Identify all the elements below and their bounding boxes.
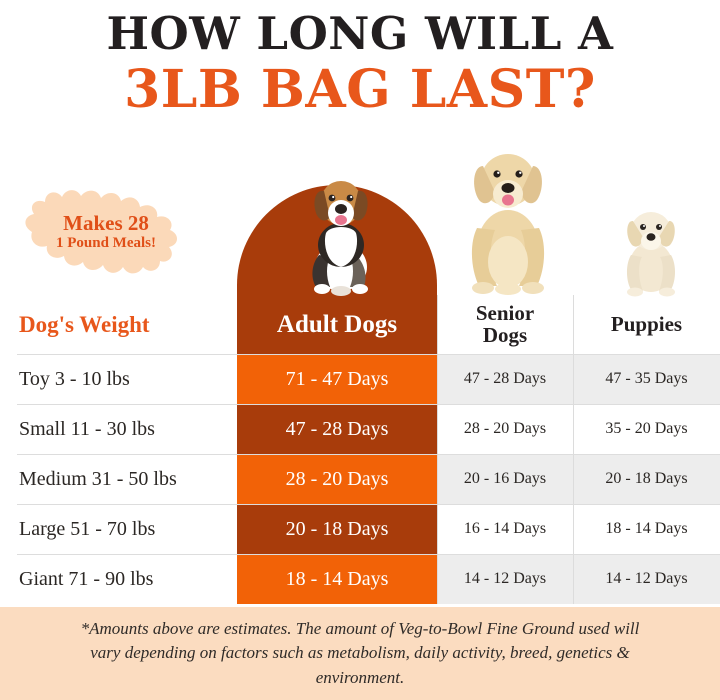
row-divider: [17, 454, 720, 455]
adult-dog-image: [286, 171, 396, 297]
cell-weight: Large 51 - 70 lbs: [0, 504, 237, 554]
cell-weight: Medium 31 - 50 lbs: [0, 454, 237, 504]
cell-senior: 14 - 12 Days: [437, 554, 573, 604]
header-label-adult: Adult Dogs: [237, 295, 437, 354]
row-divider: [17, 504, 720, 505]
table-row: Large 51 - 70 lbs20 - 18 Days16 - 14 Day…: [0, 504, 720, 554]
badge-text-group: Makes 28 1 Pound Meals!: [20, 186, 192, 278]
cell-senior: 28 - 20 Days: [437, 404, 573, 454]
cell-puppies-value: 47 - 35 Days: [573, 354, 720, 404]
cell-adult: 28 - 20 Days: [237, 454, 437, 504]
cell-senior: 16 - 14 Days: [437, 504, 573, 554]
cell-weight: Toy 3 - 10 lbs: [0, 354, 237, 404]
table-header-row: Dog's Weight Adult Dogs Senior Dogs Pupp…: [0, 295, 720, 354]
table-row: Small 11 - 30 lbs47 - 28 Days28 - 20 Day…: [0, 404, 720, 454]
cell-adult-value: 28 - 20 Days: [237, 454, 437, 504]
cell-senior: 20 - 16 Days: [437, 454, 573, 504]
cell-puppies: 20 - 18 Days: [573, 454, 720, 504]
cell-puppies: 35 - 20 Days: [573, 404, 720, 454]
senior-dog-image: [453, 136, 563, 297]
cell-senior-value: 28 - 20 Days: [437, 404, 573, 454]
cell-weight-label: Small 11 - 30 lbs: [19, 418, 155, 441]
cell-puppies: 14 - 12 Days: [573, 554, 720, 604]
row-divider: [17, 354, 720, 355]
header-cell-weight: Dog's Weight: [0, 295, 237, 354]
header-cell-adult: Adult Dogs: [237, 295, 437, 354]
title-line-2: 3LB BAG LAST?: [0, 64, 720, 116]
cell-weight-label: Toy 3 - 10 lbs: [19, 368, 130, 391]
cell-adult-value: 18 - 14 Days: [237, 554, 437, 604]
cell-adult: 71 - 47 Days: [237, 354, 437, 404]
cell-weight-label: Giant 71 - 90 lbs: [19, 568, 153, 591]
cell-senior-value: 16 - 14 Days: [437, 504, 573, 554]
header-cell-senior: Senior Dogs: [437, 295, 573, 354]
table-row: Medium 31 - 50 lbs28 - 20 Days20 - 16 Da…: [0, 454, 720, 504]
cell-puppies: 18 - 14 Days: [573, 504, 720, 554]
cell-senior-value: 47 - 28 Days: [437, 354, 573, 404]
title-line-1: HOW LONG WILL A: [0, 11, 720, 56]
feeding-duration-table: Dog's Weight Adult Dogs Senior Dogs Pupp…: [0, 295, 720, 604]
column-divider-senior: [437, 295, 438, 604]
table-body: Toy 3 - 10 lbs71 - 47 Days47 - 28 Days47…: [0, 354, 720, 604]
cell-puppies-value: 35 - 20 Days: [573, 404, 720, 454]
cell-weight-label: Large 51 - 70 lbs: [19, 518, 155, 541]
cell-puppies-value: 18 - 14 Days: [573, 504, 720, 554]
badge-line-2: 1 Pound Meals!: [56, 235, 156, 252]
cell-puppies-value: 20 - 18 Days: [573, 454, 720, 504]
cell-puppies-value: 14 - 12 Days: [573, 554, 720, 604]
cell-weight: Small 11 - 30 lbs: [0, 404, 237, 454]
cell-weight-label: Medium 31 - 50 lbs: [19, 468, 177, 491]
cell-adult: 18 - 14 Days: [237, 554, 437, 604]
cell-senior-value: 20 - 16 Days: [437, 454, 573, 504]
column-divider-puppies: [573, 295, 574, 604]
row-divider: [17, 554, 720, 555]
header-label-puppies: Puppies: [611, 314, 682, 336]
cell-senior: 47 - 28 Days: [437, 354, 573, 404]
cell-adult-value: 47 - 28 Days: [237, 404, 437, 454]
header-label-senior-line1: Senior: [476, 303, 534, 325]
badge-line-1: Makes 28: [63, 212, 149, 236]
table-row: Toy 3 - 10 lbs71 - 47 Days47 - 28 Days47…: [0, 354, 720, 404]
cell-senior-value: 14 - 12 Days: [437, 554, 573, 604]
footnote-banner: *Amounts above are estimates. The amount…: [0, 607, 720, 700]
table-row: Giant 71 - 90 lbs18 - 14 Days14 - 12 Day…: [0, 554, 720, 604]
header-label-weight: Dog's Weight: [19, 312, 150, 338]
cell-adult-value: 71 - 47 Days: [237, 354, 437, 404]
makes-28-badge: Makes 28 1 Pound Meals!: [20, 186, 192, 278]
page-title: HOW LONG WILL A 3LB BAG LAST?: [0, 0, 720, 116]
cell-adult: 20 - 18 Days: [237, 504, 437, 554]
puppy-image: [613, 199, 689, 297]
header-cell-puppies: Puppies: [573, 295, 720, 354]
cell-adult: 47 - 28 Days: [237, 404, 437, 454]
row-divider: [17, 404, 720, 405]
header-label-senior-line2: Dogs: [476, 325, 534, 347]
cell-puppies: 47 - 35 Days: [573, 354, 720, 404]
header-label-senior: Senior Dogs: [476, 303, 534, 346]
footnote-text: *Amounts above are estimates. The amount…: [70, 617, 650, 689]
cell-weight: Giant 71 - 90 lbs: [0, 554, 237, 604]
cell-adult-value: 20 - 18 Days: [237, 504, 437, 554]
